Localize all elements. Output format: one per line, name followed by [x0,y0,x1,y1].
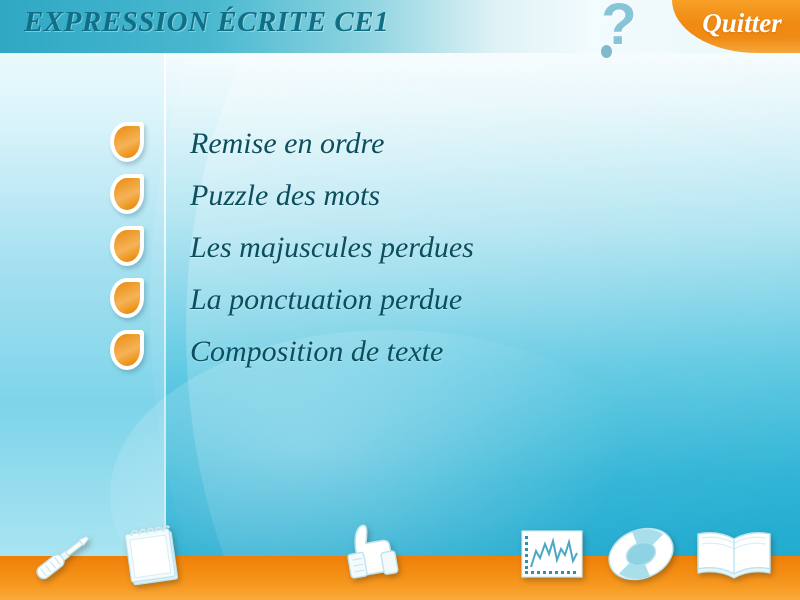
menu-item-puzzle-des-mots[interactable]: Puzzle des mots [0,170,800,222]
page-title: EXPRESSION ÉCRITE CE1 [24,6,389,39]
notepad-button[interactable] [122,521,184,587]
menu-item-les-majuscules-perdues[interactable]: Les majuscules perdues [0,222,800,274]
statistics-button[interactable] [518,527,586,583]
menu-item-label: Remise en ordre [190,127,384,161]
menu-item-label: Les majuscules perdues [190,231,474,265]
menu-item-label: Composition de texte [190,335,443,369]
thumbs-up-button[interactable] [336,515,402,585]
menu-item-label: Puzzle des mots [190,179,380,213]
activity-menu: Remise en ordre Puzzle des mots Les maju… [0,118,800,378]
screwdriver-icon [26,527,98,587]
thumbs-up-icon [336,515,402,585]
life-ring-icon [604,523,678,585]
open-book-icon [692,525,776,583]
documentation-button[interactable] [692,525,776,583]
settings-button[interactable] [26,527,98,587]
menu-item-composition-de-texte[interactable]: Composition de texte [0,326,800,378]
menu-item-remise-en-ordre[interactable]: Remise en ordre [0,118,800,170]
bottom-toolbar: 0 2 4 3 86% [0,505,800,600]
help-support-button[interactable] [604,523,678,585]
notepad-icon [122,521,184,587]
orange-teardrop-bullet-icon [110,330,144,370]
menu-item-label: La ponctuation perdue [190,283,462,317]
quit-button-label: Quitter [688,8,796,39]
orange-teardrop-bullet-icon [110,174,144,214]
line-chart-icon [518,527,586,583]
menu-item-la-ponctuation-perdue[interactable]: La ponctuation perdue [0,274,800,326]
app-window: EXPRESSION ÉCRITE CE1 ? Quitter Remise e… [0,0,800,600]
orange-teardrop-bullet-icon [110,122,144,162]
orange-teardrop-bullet-icon [110,278,144,318]
orange-teardrop-bullet-icon [110,226,144,266]
help-button[interactable]: ? [592,0,646,54]
